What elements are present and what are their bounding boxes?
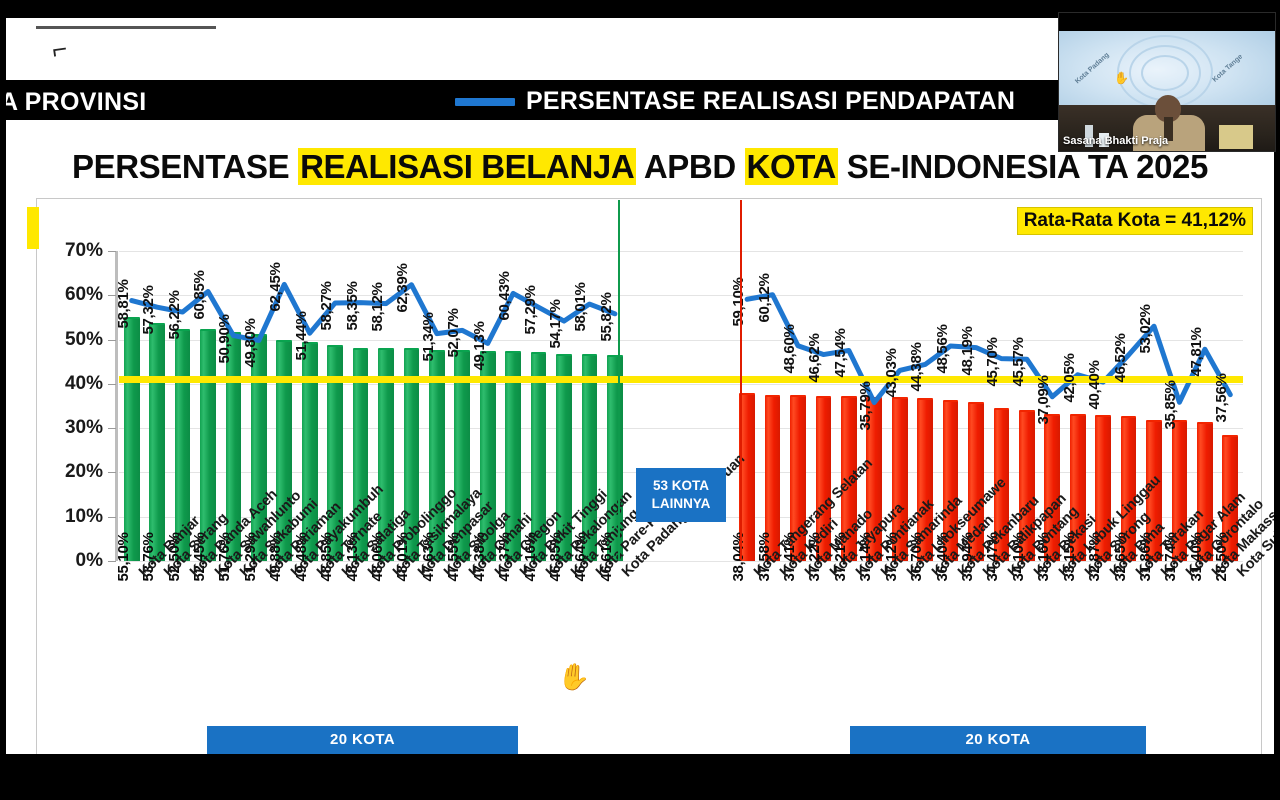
title-highlight-1: REALISASI BELANJA — [298, 148, 636, 185]
y-axis-tick-label: 30% — [65, 417, 103, 439]
line-value-label: 42,05% — [1061, 353, 1078, 402]
slide-frame: ⌐ A PROVINSI PERSENTASE REALISASI PENDAP… — [0, 0, 1280, 800]
video-mini-label-right: Kota Tange — [1211, 53, 1244, 83]
left-black-edge — [0, 0, 6, 800]
line-value-label: 57,29% — [522, 286, 539, 335]
line-value-label: 48,60% — [781, 324, 798, 373]
y-axis-tick-label: 70% — [65, 240, 103, 262]
line-value-label: 62,39% — [394, 263, 411, 312]
line-value-label: 45,70% — [984, 337, 1001, 386]
line-value-label: 48,56% — [934, 324, 951, 373]
line-value-label: 53,02% — [1137, 305, 1154, 354]
video-caption: Sasana Bhakti Praja — [1063, 135, 1168, 147]
line-value-label: 47,81% — [1188, 328, 1205, 377]
line-value-label: 51,34% — [420, 312, 437, 361]
line-value-label: 58,81% — [115, 279, 132, 328]
yellow-left-tab — [27, 207, 39, 249]
line-value-label: 35,79% — [857, 381, 874, 430]
title-part-1: PERSENTASE — [72, 148, 298, 185]
hand-cursor-icon: ✋ — [556, 660, 591, 694]
y-tick-mark — [108, 472, 116, 473]
line-value-label: 43,03% — [883, 349, 900, 398]
line-value-label: 62,45% — [267, 263, 284, 312]
y-axis-tick-label: 50% — [65, 329, 103, 351]
video-top-bar — [1059, 13, 1276, 31]
line-value-label: 58,12% — [369, 282, 386, 331]
y-axis-tick-label: 20% — [65, 461, 103, 483]
line-value-label: 45,57% — [1010, 338, 1027, 387]
other-cities-line1: 53 KOTA — [653, 477, 709, 495]
y-tick-mark — [108, 384, 116, 385]
group-divider-right — [740, 200, 742, 560]
video-overlay[interactable]: Kota Padang Kota Tange ✋ Sasana Bhakti P… — [1058, 12, 1276, 152]
legend-line-swatch-icon — [455, 98, 515, 106]
line-value-label: 51,44% — [293, 312, 310, 361]
line-value-label: 40,40% — [1086, 361, 1103, 410]
y-axis-tick-label: 10% — [65, 506, 103, 528]
legend-pendapatan: PERSENTASE REALISASI PENDAPATAN — [455, 87, 1015, 116]
header-left-title: A PROVINSI — [0, 88, 147, 117]
line-value-label: 37,56% — [1213, 373, 1230, 422]
group-divider-left — [618, 200, 620, 560]
line-value-label: 35,85% — [1162, 381, 1179, 430]
y-axis-tick-label: 0% — [76, 550, 103, 572]
y-tick-mark — [108, 428, 116, 429]
title-part-2: APBD — [636, 148, 744, 185]
line-value-label: 44,38% — [908, 343, 925, 392]
remnant-rule — [36, 26, 216, 29]
y-tick-mark — [108, 517, 116, 518]
y-tick-mark — [108, 340, 116, 341]
line-value-label: 52,07% — [445, 309, 462, 358]
line-value-label: 58,01% — [572, 283, 589, 332]
title-row: PERSENTASE REALISASI BELANJA APBD KOTA S… — [0, 148, 1280, 186]
banner-right-line1: 20 KOTA — [850, 731, 1146, 748]
line-value-label: 58,27% — [318, 281, 335, 330]
line-value-label: 48,19% — [959, 326, 976, 375]
line-value-label: 49,80% — [242, 319, 259, 368]
line-value-label: 55,82% — [598, 292, 615, 341]
line-value-label: 54,17% — [547, 300, 564, 349]
average-badge: Rata-Rata Kota = 41,12% — [1017, 207, 1253, 235]
line-value-label: 37,09% — [1035, 375, 1052, 424]
legend-label: PERSENTASE REALISASI PENDAPATAN — [526, 87, 1015, 116]
y-tick-mark — [108, 251, 116, 252]
remnant-mark: ⌐ — [50, 33, 69, 66]
line-value-label: 60,12% — [756, 273, 773, 322]
title-part-3: SE-INDONESIA TA 2025 — [838, 148, 1208, 185]
y-axis-tick-label: 60% — [65, 284, 103, 306]
y-axis-tick-label: 40% — [65, 373, 103, 395]
video-mini-label-left: Kota Padang — [1074, 52, 1110, 86]
line-value-label: 60,43% — [496, 272, 513, 321]
line-value-label: 59,10% — [730, 278, 747, 327]
bottom-black-strip — [0, 754, 1280, 800]
page-title: PERSENTASE REALISASI BELANJA APBD KOTA S… — [72, 148, 1208, 186]
line-value-label: 46,52% — [1112, 333, 1129, 382]
other-cities-line2: LAINNYA — [652, 495, 711, 513]
video-object-folder — [1219, 125, 1253, 149]
line-value-label: 58,35% — [344, 281, 361, 330]
video-hand-icon: ✋ — [1114, 71, 1129, 85]
line-value-label: 47,54% — [832, 329, 849, 378]
title-highlight-2: KOTA — [745, 148, 838, 185]
other-cities-box: 53 KOTA LAINNYA — [636, 468, 726, 522]
line-value-label: 56,22% — [166, 290, 183, 339]
line-value-label: 50,90% — [216, 314, 233, 363]
line-value-label: 60,85% — [191, 270, 208, 319]
line-value-label: 57,32% — [140, 286, 157, 335]
banner-left-line1: 20 KOTA — [207, 731, 518, 748]
line-value-label: 49,13% — [471, 322, 488, 371]
line-value-label: 46,62% — [806, 333, 823, 382]
